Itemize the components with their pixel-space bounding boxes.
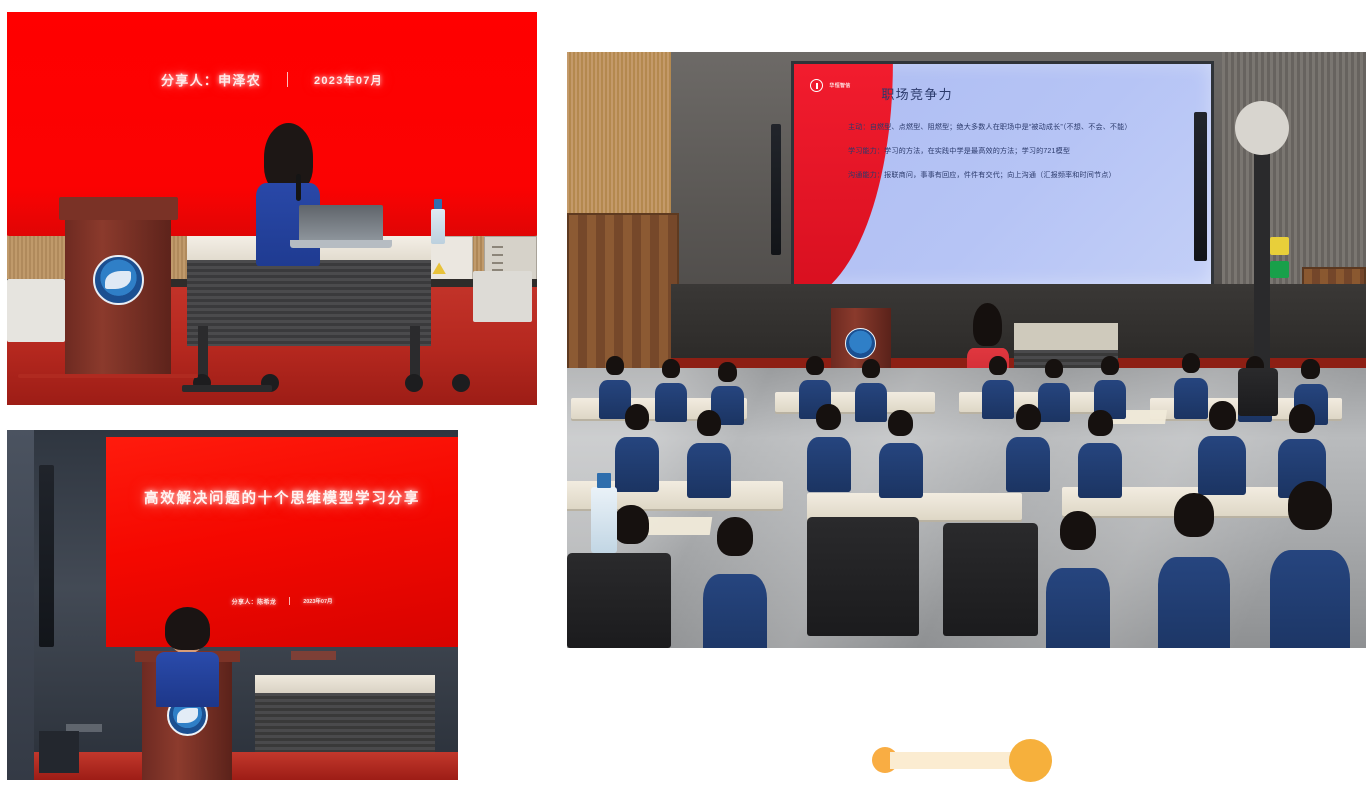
photo-red-title-slide[interactable]: 高效解决问题的十个思维模型学习分享 分享人：陈希龙 2023年07月: [7, 430, 458, 780]
caption-divider: [289, 597, 290, 605]
slide-subtitle-row: 分享人：陈希龙 2023年07月: [106, 597, 458, 606]
microphone-stand-icon: [1254, 112, 1270, 386]
slide-title: 职场竞争力: [881, 84, 953, 103]
speaker-tower-icon: [771, 124, 781, 255]
desk-caster: [452, 374, 470, 392]
microphone-icon: [296, 174, 302, 201]
page-indicator[interactable]: [872, 736, 1052, 784]
slide-bullet-2: 学习能力：学习的方法，在实践中学是最高效的方法；学习的721模型: [848, 145, 1165, 158]
equipment-right: [473, 271, 531, 322]
wall-marker: [291, 651, 336, 660]
water-bottle-icon: [591, 487, 617, 553]
slide-bullet-1: 主动：自燃型、点燃型、阻燃型；绝大多数人在职场中是“被动成长”（不想、不会、不能…: [848, 121, 1165, 134]
audience-member: [1278, 404, 1326, 493]
presenter-label: 分享人：申泽农: [161, 70, 261, 89]
company-logo-text: 华恒智信: [829, 82, 850, 89]
stage-desk-top: [1014, 323, 1118, 353]
red-carpet-floor: [34, 752, 458, 780]
equipment-left: [7, 279, 65, 342]
slide-title: 高效解决问题的十个思维模型学习分享: [106, 487, 458, 508]
audience-member: [879, 410, 923, 493]
page-indicator-track[interactable]: [890, 752, 1017, 769]
equipment-box: [39, 731, 80, 773]
speaker-hair: [264, 123, 314, 192]
audience-chair: [807, 517, 919, 636]
speaker-tower-icon: [39, 465, 55, 647]
date-label: 2023年07月: [303, 597, 332, 605]
presentation-desk-body: [255, 693, 435, 753]
company-logo: 华恒智信: [810, 79, 850, 92]
audience-member: [703, 517, 767, 648]
school-emblem-icon: [93, 255, 144, 306]
screen-caption-row: 分享人：申泽农 2023年07月: [7, 70, 537, 89]
audience-member: [1158, 493, 1230, 648]
presenter-figure: [156, 612, 219, 703]
wooden-podium: [65, 197, 171, 378]
photo-lecture-hall-speaker[interactable]: 分享人：申泽农 2023年07月: [7, 12, 537, 405]
audience-chair: [567, 553, 671, 648]
presentation-desk-body: [187, 260, 431, 346]
audience-member: [1094, 356, 1126, 416]
presenter-body: [156, 652, 219, 707]
wall-column-left: [7, 430, 34, 780]
g-logo-icon: [810, 79, 823, 92]
audience-member: [1046, 511, 1110, 648]
water-bottle-icon: [431, 209, 445, 244]
audience-chair: [943, 523, 1039, 636]
audience-member: [1006, 404, 1050, 487]
speaker-tower-icon: [1194, 112, 1207, 261]
audience-member: [655, 359, 687, 419]
audience-member: [1270, 481, 1350, 648]
laptop-icon: [299, 205, 384, 240]
floor-cable: [182, 385, 272, 391]
presentation-desk-top: [255, 675, 435, 693]
page-dot-2-active[interactable]: [1009, 739, 1052, 782]
audience-member: [807, 404, 851, 487]
audience-member: [615, 404, 659, 487]
projection-screen: 华恒智信 职场竞争力 主动：自燃型、点燃型、阻燃型；绝大多数人在职场中是“被动成…: [791, 61, 1214, 287]
gallery-stage: 分享人：申泽农 2023年07月: [0, 0, 1366, 792]
audience-member: [687, 410, 731, 493]
photo-classroom-audience[interactable]: 华恒智信 职场竞争力 主动：自燃型、点燃型、阻燃型；绝大多数人在职场中是“被动成…: [567, 52, 1366, 648]
exit-sign-icon: [1270, 261, 1289, 279]
audience-chair: [1238, 368, 1278, 416]
desk-caster: [405, 374, 423, 392]
presenter-hair: [165, 607, 210, 651]
presenter-hair: [973, 303, 1002, 347]
audience-member: [1078, 410, 1122, 493]
date-label: 2023年07月: [314, 72, 383, 88]
wall-sign-icon: [1270, 237, 1289, 255]
slide-body: 主动：自燃型、点燃型、阻燃型；绝大多数人在职场中是“被动成长”（不想、不会、不能…: [848, 121, 1165, 193]
presenter-label: 分享人：陈希龙: [232, 597, 277, 606]
caption-divider: [287, 72, 288, 87]
school-emblem-icon: [845, 328, 876, 359]
slide-bullet-3: 沟通能力：报联商问，事事有回应，件件有交代；向上沟通（汇报频率和时间节点）: [848, 169, 1165, 182]
floor-cable: [18, 374, 198, 379]
